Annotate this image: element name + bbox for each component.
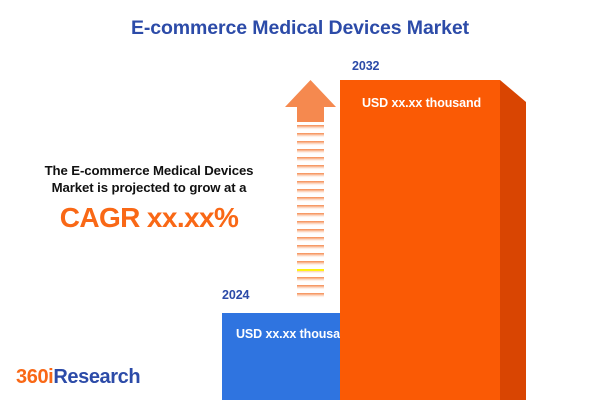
logo-suffix: Research	[53, 366, 140, 388]
bar-label-year-2032: 2032	[352, 59, 379, 73]
cagr-lead-text: The E-commerce Medical Devices Market is…	[14, 162, 284, 196]
bar-value-2032: USD xx.xx thousand	[362, 96, 481, 110]
page-title: E-commerce Medical Devices Market	[0, 17, 600, 40]
bar-value-2024: USD xx.xx thousand	[236, 327, 355, 341]
upward-growth-arrow-icon	[283, 80, 339, 305]
logo-prefix: 360i	[16, 366, 53, 388]
brand-logo[interactable]: 360iResearch	[16, 366, 140, 389]
cagr-callout: The E-commerce Medical Devices Market is…	[14, 162, 284, 234]
cagr-lead-line-2: Market is projected to grow at a	[52, 180, 247, 195]
cagr-value-text: CAGR xx.xx%	[14, 202, 284, 234]
bar-label-year-2024: 2024	[222, 288, 249, 302]
infographic-canvas: E-commerce Medical Devices Market The E-…	[0, 0, 600, 400]
bar-2032[interactable]	[340, 80, 526, 400]
cagr-lead-line-1: The E-commerce Medical Devices	[45, 163, 254, 178]
